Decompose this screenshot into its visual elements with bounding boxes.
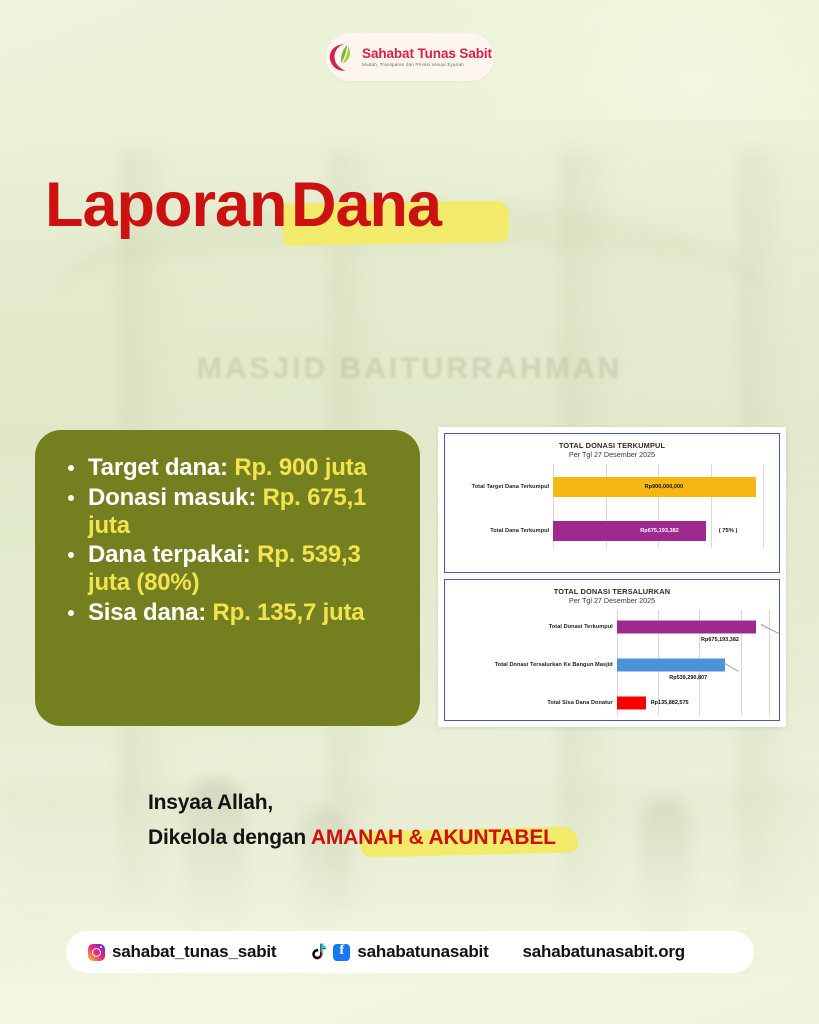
chart-bar-row: Total Dana Terkumpul Rp675,193,382 ( 75%… [453, 516, 771, 546]
chart-title: TOTAL DONASI TERSALURKAN [453, 587, 771, 596]
summary-card: Target dana: Rp. 900 juta Donasi masuk: … [35, 430, 420, 726]
background-watermark-text: MASJID BAITURRAHMAN [0, 352, 819, 386]
brand-tagline: Mudah, Transparan dan Privasi sesuai Sya… [362, 63, 492, 68]
chart-bar-row: Total Donasi Tersalurkan Ke Bangun Masji… [453, 652, 771, 678]
summary-label: Sisa dana: [88, 599, 206, 626]
chart-subtitle: Per Tgl 27 Desember 2025 [453, 597, 771, 606]
list-item: Sisa dana: Rp. 135,7 juta [61, 599, 394, 627]
bar-value-label: Rp675,193,382 [701, 637, 739, 643]
bar-percent-annotation: ( 75% ) [719, 528, 738, 534]
summary-value: Rp. 900 juta [234, 454, 366, 481]
summary-label: Target dana: [88, 454, 228, 481]
chart-donasi-terkumpul: TOTAL DONASI TERKUMPUL Per Tgl 27 Desemb… [444, 433, 780, 573]
summary-list: Target dana: Rp. 900 juta Donasi masuk: … [61, 454, 394, 627]
summary-value: Rp. 135,7 juta [213, 599, 365, 626]
closing-line-2: Dikelola dengan AMANAH & AKUNTABEL [148, 821, 556, 856]
facebook-icon[interactable] [333, 944, 350, 961]
footer-website[interactable]: sahabatunasabit.org [523, 942, 685, 962]
chart-plot-area: Total Donasi Terkumpul Total Donasi Ters… [453, 610, 771, 716]
footer-social[interactable]: sahabatunasabit [310, 942, 488, 962]
bar-value-label: Rp675,193,382 [640, 528, 679, 534]
closing-line-1: Insyaa Allah, [148, 786, 556, 821]
chart-category-label: Total Sisa Dana Donatur [453, 700, 617, 706]
closing-prefix: Dikelola dengan [148, 826, 311, 849]
chart-subtitle: Per Tgl 27 Desember 2025 [453, 451, 771, 460]
chart-category-label: Total Target Dana Terkumpul [453, 484, 553, 490]
chart-bars: Total Target Dana Terkumpul Rp900,000,00… [453, 464, 771, 548]
brand-logo-text: Sahabat Tunas Sabit Mudah, Transparan da… [362, 47, 492, 68]
list-item: Dana terpakai: Rp. 539,3 juta (80%) [61, 541, 394, 597]
bar-value-label: Rp900,000,000 [645, 484, 684, 490]
bar-donasi-terkumpul [617, 621, 756, 634]
brand-name: Sahabat Tunas Sabit [362, 47, 492, 61]
footer-bar: sahabat_tunas_sabit sahabatunasabit saha… [66, 931, 754, 973]
bar-dana-terkumpul [553, 521, 705, 541]
list-item: Donasi masuk: Rp. 675,1 juta [61, 484, 394, 540]
summary-label: Dana terpakai: [88, 541, 251, 568]
instagram-icon[interactable] [88, 944, 105, 961]
title-line-2: Dana [291, 176, 441, 235]
chart-donasi-tersalurkan: TOTAL DONASI TERSALURKAN Per Tgl 27 Dese… [444, 579, 780, 721]
footer-instagram[interactable]: sahabat_tunas_sabit [88, 942, 276, 962]
closing-highlight: AMANAH & AKUNTABEL [311, 826, 556, 849]
chart-category-label: Total Dana Terkumpul [453, 528, 553, 534]
instagram-handle: sahabat_tunas_sabit [112, 942, 276, 962]
bar-value-label: Rp539,290,807 [669, 675, 707, 681]
page-title: Laporan Dana [45, 172, 441, 235]
chart-plot-area: Total Target Dana Terkumpul Rp900,000,00… [453, 464, 771, 548]
chart-category-label: Total Donasi Tersalurkan Ke Bangun Masji… [453, 662, 617, 668]
charts-panel: TOTAL DONASI TERKUMPUL Per Tgl 27 Desemb… [438, 427, 786, 727]
closing-text: Insyaa Allah, Dikelola dengan AMANAH & A… [148, 786, 556, 855]
summary-label: Donasi masuk: [88, 484, 256, 511]
crescent-leaf-logo-icon [327, 41, 357, 73]
social-handle: sahabatunasabit [357, 942, 488, 962]
brand-logo: Sahabat Tunas Sabit Mudah, Transparan da… [326, 33, 494, 81]
list-item: Target dana: Rp. 900 juta [61, 454, 394, 482]
poster-root: MASJID BAITURRAHMAN Sahabat Tunas Sabit … [0, 0, 819, 1024]
bar-value-label: Rp135,882,575 [651, 700, 689, 706]
chart-title: TOTAL DONASI TERKUMPUL [453, 441, 771, 450]
chart-category-label: Total Donasi Terkumpul [453, 624, 617, 630]
title-line-1: Laporan [45, 176, 287, 235]
bar-sisa-dana [617, 697, 646, 710]
website-url: sahabatunasabit.org [523, 942, 685, 962]
chart-bar-row: Total Target Dana Terkumpul Rp900,000,00… [453, 472, 771, 502]
chart-bar-row: Total Sisa Dana Donatur Rp135,882,575 [453, 690, 771, 716]
tiktok-icon[interactable] [310, 943, 326, 961]
bar-tersalurkan-masjid [617, 659, 725, 672]
